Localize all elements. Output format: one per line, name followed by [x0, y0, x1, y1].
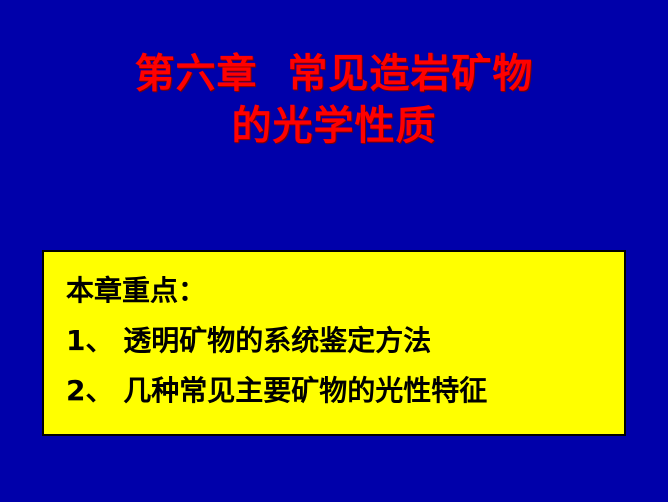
- slide-canvas: 第六章 常见造岩矿物 的光学性质 本章重点： 1、 透明矿物的系统鉴定方法 2、…: [0, 0, 668, 502]
- slide-title-line-1: 第六章 常见造岩矿物: [0, 48, 668, 100]
- key-points-item-1: 1、 透明矿物的系统鉴定方法: [66, 316, 606, 366]
- key-points-box: 本章重点： 1、 透明矿物的系统鉴定方法 2、 几种常见主要矿物的光性特征: [42, 250, 626, 436]
- slide-title: 第六章 常见造岩矿物 的光学性质: [0, 48, 668, 152]
- key-points-heading: 本章重点：: [66, 266, 606, 316]
- slide-title-line-2: 的光学性质: [0, 100, 668, 152]
- key-points-item-2: 2、 几种常见主要矿物的光性特征: [66, 366, 606, 416]
